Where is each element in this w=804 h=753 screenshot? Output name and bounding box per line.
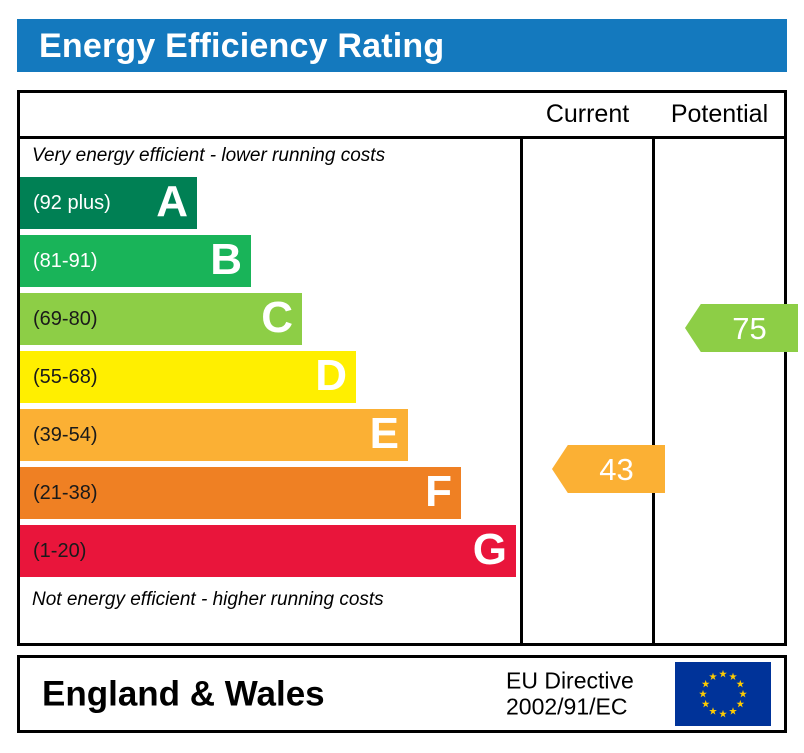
band-letter-label: E bbox=[370, 412, 399, 456]
band-range-label: (55-68) bbox=[20, 367, 97, 387]
page-title: Energy Efficiency Rating bbox=[17, 29, 444, 63]
caption-very-efficient: Very energy efficient - lower running co… bbox=[32, 145, 385, 167]
band-range-label: (39-54) bbox=[20, 425, 97, 445]
column-header-current: Current bbox=[523, 93, 652, 136]
band-letter-label: C bbox=[261, 296, 293, 340]
band-range-label: (92 plus) bbox=[20, 193, 111, 213]
footer-directive-line1: EU Directive bbox=[506, 668, 634, 694]
rating-band-d: (55-68)D bbox=[20, 351, 356, 403]
band-range-label: (69-80) bbox=[20, 309, 97, 329]
column-header-potential: Potential bbox=[655, 93, 784, 136]
rating-band-a: (92 plus)A bbox=[20, 177, 197, 229]
rating-band-b: (81-91)B bbox=[20, 235, 251, 287]
energy-efficiency-certificate: Energy Efficiency Rating Current Potenti… bbox=[0, 0, 804, 753]
rating-bands: (92 plus)A(81-91)B(69-80)C(55-68)D(39-54… bbox=[20, 177, 520, 585]
band-letter-label: B bbox=[210, 238, 242, 282]
rating-band-e: (39-54)E bbox=[20, 409, 408, 461]
band-range-label: (81-91) bbox=[20, 251, 97, 271]
eu-flag-icon bbox=[675, 662, 771, 726]
table-header-row: Current Potential bbox=[20, 93, 784, 139]
column-divider-2 bbox=[652, 139, 655, 643]
chart-title-bar: Energy Efficiency Rating bbox=[17, 19, 787, 72]
footer-directive-line2: 2002/91/EC bbox=[506, 694, 634, 720]
rating-band-f: (21-38)F bbox=[20, 467, 461, 519]
band-range-label: (21-38) bbox=[20, 483, 97, 503]
band-letter-label: A bbox=[156, 180, 188, 224]
band-range-label: (1-20) bbox=[20, 541, 86, 561]
band-letter-label: F bbox=[425, 470, 452, 514]
caption-not-efficient: Not energy efficient - higher running co… bbox=[32, 589, 384, 611]
rating-table: Current Potential Very energy efficient … bbox=[17, 90, 787, 646]
footer-directive-label: EU Directive 2002/91/EC bbox=[506, 668, 634, 720]
rating-arrow-current: 43 bbox=[552, 445, 665, 493]
rating-band-c: (69-80)C bbox=[20, 293, 302, 345]
column-divider-1 bbox=[520, 139, 523, 643]
band-letter-label: D bbox=[315, 354, 347, 398]
band-letter-label: G bbox=[473, 528, 507, 572]
rating-arrow-potential: 75 bbox=[685, 304, 798, 352]
rating-band-g: (1-20)G bbox=[20, 525, 516, 577]
footer-region-label: England & Wales bbox=[42, 677, 325, 712]
footer: England & Wales EU Directive 2002/91/EC bbox=[17, 655, 787, 733]
